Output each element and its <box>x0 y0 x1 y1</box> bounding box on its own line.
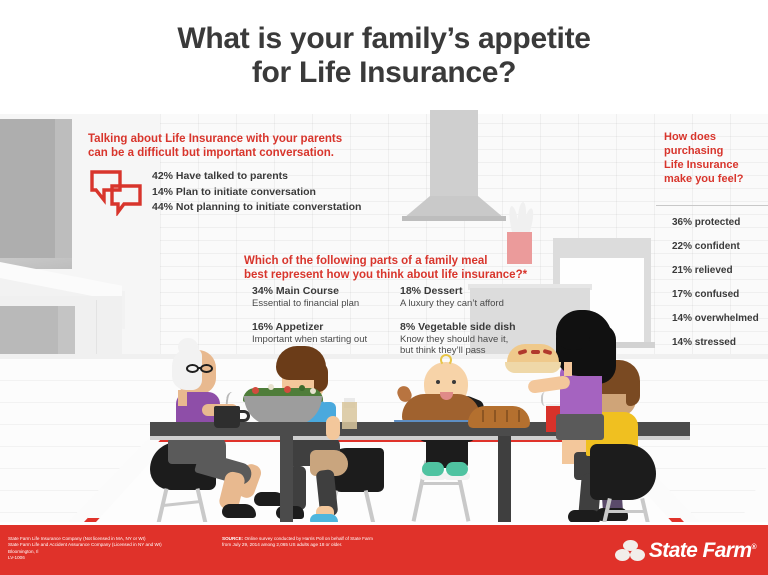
logo-oval-right <box>630 549 645 561</box>
highchair-crossbar <box>422 482 462 485</box>
wall-top-trim <box>0 110 768 114</box>
middle-question-block: Which of the following parts of a family… <box>244 255 544 282</box>
pie-vent <box>531 350 540 354</box>
answer-desc: A luxury they can’t afford <box>400 298 516 310</box>
middle-heading-line-2: best represent how you think about life … <box>244 269 544 283</box>
right-stat-row: 17% confused <box>672 283 768 307</box>
salad-crouton <box>310 388 316 394</box>
son-hair-side <box>314 362 328 392</box>
right-stat-row: 22% confident <box>672 235 768 259</box>
left-stat-row: 44% Not planning to initiate converstati… <box>152 200 361 216</box>
page-title: What is your family’s appetite for Life … <box>0 22 768 90</box>
right-stat-row: 36% protected <box>672 211 768 235</box>
source-text: Online survey conducted by Harris Poll o… <box>243 536 373 541</box>
logo-oval-left <box>615 549 630 561</box>
dining-table-leg <box>280 436 293 522</box>
right-heading-line-4: make you feel? <box>664 172 768 186</box>
left-stat-block: Talking about Life Insurance with your p… <box>88 133 408 160</box>
three-ovals-logo-icon <box>615 540 645 562</box>
left-stat-row: 14% Plan to initiate conversation <box>152 185 361 201</box>
salad-greens-piece <box>299 385 305 391</box>
coffee-mug <box>214 406 240 428</box>
bread-score <box>518 410 520 422</box>
salad-crouton <box>268 384 274 390</box>
salad-tomato <box>252 387 259 394</box>
left-stat-row: 42% Have talked to parents <box>152 169 361 185</box>
right-stat-list: 36% protected 22% confident 21% relieved… <box>672 211 768 355</box>
answer-title: 34% Main Course <box>252 285 367 298</box>
bread-loaf <box>468 406 530 428</box>
left-stat-list: 42% Have talked to parents 14% Plan to i… <box>152 169 361 216</box>
logo-wordmark-text: State Farm <box>649 539 752 562</box>
answer-desc: Important when starting out <box>252 334 367 346</box>
answer-title: 16% Appetizer <box>252 321 367 334</box>
middle-heading-line-1: Which of the following parts of a family… <box>244 255 544 269</box>
upper-cabinet-face <box>0 119 55 269</box>
mother-skirt <box>556 414 604 440</box>
title-line-1: What is your family’s appetite <box>0 22 768 56</box>
chair-father <box>590 444 656 500</box>
left-heading-line-2: can be a difficult but important convers… <box>88 147 408 161</box>
bread-score <box>494 410 496 422</box>
right-heading-line-3: Life Insurance <box>664 158 768 172</box>
source-label: SOURCE: <box>222 536 243 541</box>
son-shoe <box>310 514 338 522</box>
answer-title: 8% Vegetable side dish <box>400 321 516 334</box>
middle-answer-column-right: 18% Dessert A luxury they can’t afford 8… <box>400 285 516 368</box>
answer-item: 18% Dessert A luxury they can’t afford <box>400 285 516 310</box>
dining-table-leg <box>498 436 511 522</box>
right-stat-row: 14% stressed <box>672 331 768 355</box>
baby-shoe <box>422 462 444 476</box>
baby-eye <box>452 380 456 384</box>
right-feelings-block: How does purchasing Life Insurance make … <box>664 130 768 186</box>
son-arm <box>326 416 340 440</box>
range-hood-duct <box>430 110 478 198</box>
footer-legal-text: State Farm Life Insurance Company (Not l… <box>8 536 213 562</box>
baby-eye <box>436 380 440 384</box>
right-heading-line-2: purchasing <box>664 144 768 158</box>
answer-title: 18% Dessert <box>400 285 516 298</box>
salad-tomato <box>284 386 291 393</box>
legal-line: LV-1006 <box>8 555 213 561</box>
grandmother-shoe <box>222 504 256 518</box>
counter-panel-seam <box>96 300 97 360</box>
range-hood-lip <box>402 216 506 221</box>
drinking-glass <box>342 402 357 429</box>
answer-item: 16% Appetizer Important when starting ou… <box>252 321 367 346</box>
answer-item: 8% Vegetable side dish Know they should … <box>400 321 516 357</box>
footer-source-text: SOURCE: Online survey conducted by Harri… <box>222 536 422 549</box>
upper-cabinet-side <box>55 119 72 269</box>
answer-desc: Know they should have it, but think they… <box>400 334 516 357</box>
source-line-2: from July 29, 2014 among 2,065 US adults… <box>222 542 422 548</box>
right-divider <box>656 205 768 206</box>
logo-registered-mark: ® <box>751 544 756 551</box>
answer-item: 34% Main Course Essential to financial p… <box>252 285 367 310</box>
middle-answer-column-left: 34% Main Course Essential to financial p… <box>252 285 367 356</box>
answer-desc: Essential to financial plan <box>252 298 367 310</box>
baseboard <box>0 354 768 359</box>
chair-crossbar <box>606 510 646 513</box>
mother-shoulder <box>564 362 572 376</box>
title-line-2: for Life Insurance? <box>0 56 768 90</box>
right-stat-row: 14% overwhelmed <box>672 307 768 331</box>
state-farm-logo: State Farm® <box>615 538 756 564</box>
logo-wordmark: State Farm® <box>649 539 756 563</box>
right-stat-row: 21% relieved <box>672 259 768 283</box>
grandmother-glasses-bridge <box>198 367 202 369</box>
right-heading-line-1: How does <box>664 130 768 144</box>
left-heading-line-1: Talking about Life Insurance with your p… <box>88 133 408 147</box>
grandmother-shoulder <box>178 390 187 406</box>
bread-score <box>506 410 508 422</box>
bread-score <box>482 410 484 422</box>
infographic-poster: What is your family’s appetite for Life … <box>0 0 768 575</box>
speech-bubbles-icon <box>90 170 144 216</box>
father-hair-side <box>626 376 640 406</box>
baby-shoe <box>446 462 468 476</box>
